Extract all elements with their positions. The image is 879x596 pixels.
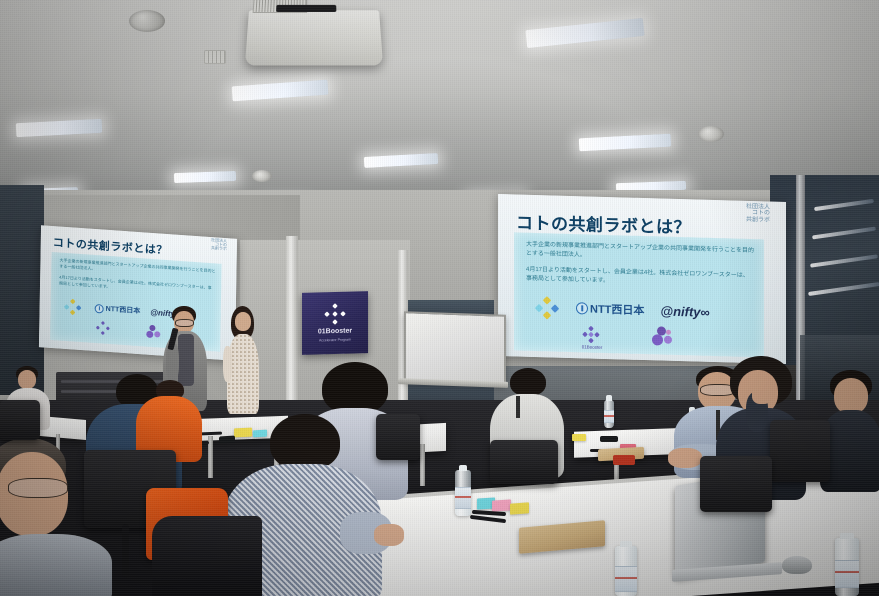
banner-title: 01Booster [302,327,368,336]
audience-hair [270,414,340,470]
smartphone [600,436,618,442]
logo-row-primary: NTT西日本 @nifty∞ [576,300,708,320]
light-reflection [808,282,879,296]
ceiling-speaker [698,126,724,142]
kotono-diamond-logo [536,297,558,320]
slide-corner-label: 社団法人 コトの 共創ラボ [746,204,770,224]
sticky-note-pink [492,499,511,511]
slide-paragraph: 大手企業の新規事業推進部門とスタートアップ企業の共同事業開発を行うことを目的とす… [526,241,754,265]
bottle-cap [620,541,632,547]
presenter-glasses [175,319,194,327]
sticky-note-yellow [572,434,586,441]
hand [752,386,772,404]
office-chair [700,456,772,512]
water-bottle [615,546,637,596]
office-chair [490,440,558,484]
hand [668,448,702,468]
light-reflection [812,227,876,240]
chair-base [122,524,129,578]
office-chair [770,420,830,482]
bottle-cap [840,533,853,539]
hand [374,524,404,546]
wall-column [286,236,298,416]
slide-body-panel: 大手企業の新規事業推進部門とスタートアップ企業の共同事業開発を行うことを目的とす… [514,232,764,357]
bottle-label [604,410,614,423]
water-bottle [835,538,859,596]
light-reflection [810,254,878,267]
slide-surface: コトの共創ラボとは？ 社団法人 コトの 共創ラボ 大手企業の新規事業推進部門とス… [498,194,786,364]
bottle-cap [606,395,612,401]
woman-arm [223,346,232,382]
swirl-partner-logo [652,326,674,349]
office-chair [0,400,40,440]
bottle-label [455,487,471,509]
photo-scene: コトの共創ラボとは？ 社団法人 コトの 共創ラボ 大手企業の新規事業推進部門とス… [0,0,879,596]
slide-paragraph: 4月17日より活動をスタートし、会員企業は4社。株式会社ゼロワンブースターは、事… [526,266,754,290]
ceiling-projector [245,10,383,65]
red-object [613,455,635,465]
ceiling-speaker [252,170,272,182]
ntt-circle-icon [95,303,104,313]
water-bottle [604,400,614,428]
ntt-circle-icon [576,302,588,314]
water-bottle [455,470,471,516]
sticky-note-yellow [510,502,529,514]
light-reflection [814,199,874,211]
audience-hair [510,368,546,396]
ntt-west-label: NTT西日本 [590,301,644,319]
lanyard [516,396,520,418]
standing-woman [222,306,262,424]
zeroone-booster-label: 01Booster [570,344,614,350]
01booster-banner: 01Booster Accelerator Program [302,291,368,355]
mouse [782,556,812,574]
table-leg [420,444,425,486]
kotono-diamond-logo [65,299,81,316]
bottle-cap [459,465,468,471]
left-window [0,185,44,395]
ntt-west-label: NTT西日本 [106,304,141,316]
audience-head [18,370,36,389]
ceiling-speaker [129,10,165,32]
office-chair [376,414,420,460]
woman-dress [227,334,259,414]
dark-coat [152,516,262,596]
bottle-label [835,560,859,588]
bottle-label [615,566,637,592]
infinity-icon: ∞ [701,304,708,319]
woman-head [235,312,251,331]
slide-corner-label: 社団法人 コトの 共創ラボ [211,238,227,252]
audience-member [136,380,202,460]
projection-screen-right: コトの共創ラボとは？ 社団法人 コトの 共創ラボ 大手企業の新規事業推進部門とス… [498,194,786,364]
audience-torso [0,534,112,596]
zeroone-booster-logo [96,321,111,337]
nifty-logo: @nifty∞ [660,303,707,319]
banner-subtitle: Accelerator Program [302,337,368,343]
audience-hair [322,362,388,414]
eyeglasses [8,478,68,498]
nifty-label: @nifty [660,303,700,319]
ntt-west-logo: NTT西日本 [95,303,141,316]
banner-diamond-logo [325,304,345,325]
audience-head [834,378,868,414]
ceiling-vent [204,50,226,64]
ntt-west-logo: NTT西日本 [576,300,644,318]
projector-lens [276,5,336,12]
